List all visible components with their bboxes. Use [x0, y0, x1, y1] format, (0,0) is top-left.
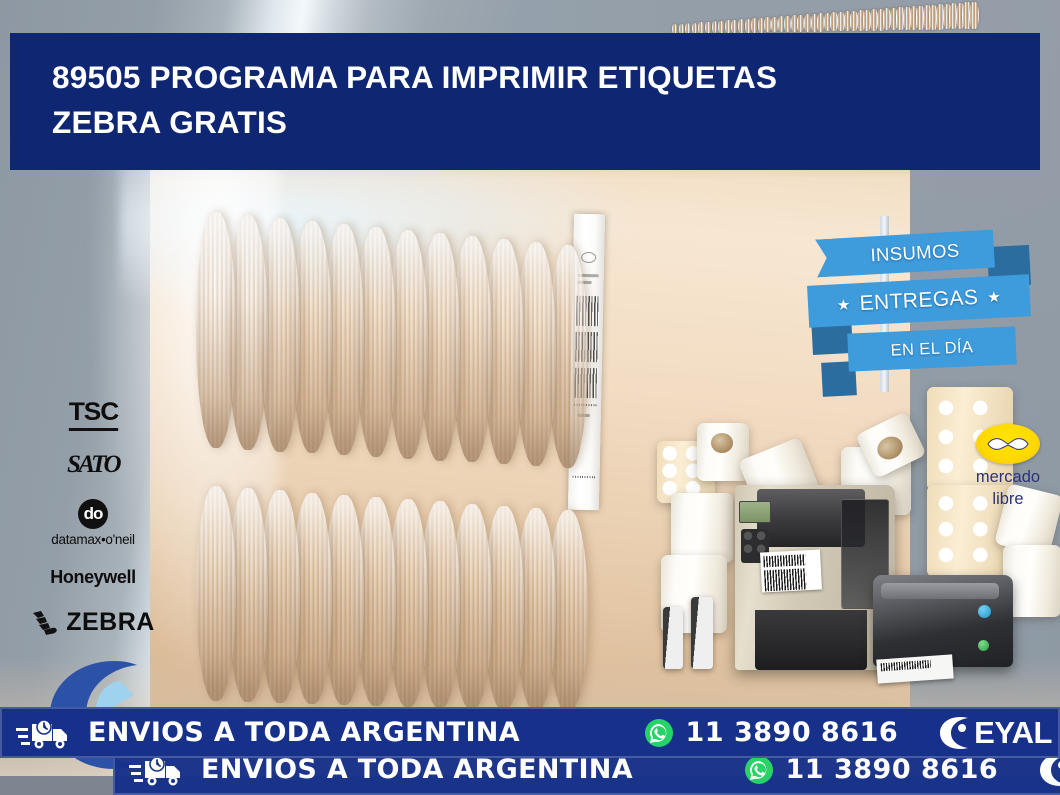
whatsapp-icon	[744, 755, 774, 785]
label-roll	[671, 493, 733, 563]
desktop-label-printer	[873, 575, 1013, 667]
datamax-mark-icon: do	[78, 499, 108, 529]
roll-core	[711, 433, 733, 453]
cookie	[698, 22, 703, 34]
brand-logo-sato: SATO	[18, 451, 168, 479]
whatsapp-block-duplicate: 11 3890 8616	[744, 754, 998, 785]
phone-number-duplicate: 11 3890 8616	[785, 754, 998, 785]
page-title: 89505 PROGRAMA PARA IMPRIMIR ETIQUETAS Z…	[10, 33, 1040, 145]
cookie	[784, 16, 791, 32]
promo-ribbons: INSUMOS ★ ENTREGAS ★ EN EL DÍA	[806, 216, 1060, 396]
cookie	[771, 17, 778, 33]
mercado-libre-logo: mercado libre	[962, 424, 1054, 507]
shipping-bar: ENVIOS A TODA ARGENTINA 11 3890 8616 EYA…	[0, 707, 1060, 758]
cookie	[196, 212, 236, 448]
delivery-truck-clock-icon	[16, 716, 72, 750]
ribbon-label-en-el-dia: EN EL DÍA	[890, 338, 974, 361]
shipping-text-duplicate: ENVIOS A TODA ARGENTINA	[201, 754, 633, 785]
printer-lid	[881, 583, 999, 599]
star-icon-right: ★	[987, 288, 1002, 307]
brand-label-datamax-oneil: datamax•o'neil	[18, 532, 168, 547]
cookie	[731, 20, 737, 33]
cookie	[745, 19, 751, 33]
eyal-brand-text: EYAL	[974, 715, 1052, 751]
eyal-logo: EYAL	[938, 715, 1052, 751]
whatsapp-icon[interactable]	[644, 718, 674, 748]
cookie	[758, 18, 764, 33]
printer-base	[755, 610, 867, 670]
cookie	[692, 23, 697, 34]
brand-logo-zebra: ZEBRA	[18, 608, 168, 637]
cookie	[969, 2, 979, 29]
label-microtext	[573, 476, 596, 478]
label-ellipse	[581, 252, 596, 263]
phone-number[interactable]: 11 3890 8616	[685, 717, 898, 748]
mercado-libre-name-line2: libre	[962, 491, 1054, 508]
printer-feed-button	[978, 605, 991, 618]
star-icon-left: ★	[836, 296, 851, 315]
eyal-c-icon	[938, 715, 972, 751]
cookie	[725, 20, 731, 33]
whatsapp-contact[interactable]: 11 3890 8616	[644, 717, 898, 748]
industrial-label-printer	[735, 485, 895, 670]
cookie	[712, 21, 718, 33]
brand-label-sato: SATO	[67, 451, 119, 478]
brand-label-zebra: ZEBRA	[66, 608, 155, 637]
mercado-libre-name-line1: mercado	[962, 469, 1054, 486]
printer-status-led	[978, 640, 989, 651]
thermal-ribbon-roll	[663, 607, 683, 669]
zebra-head-icon	[31, 610, 61, 636]
thermal-ribbon-roll	[691, 597, 713, 669]
handshake-icon	[985, 433, 1031, 454]
brand-logo-tsc: TSC	[18, 398, 168, 431]
ribbon-insumos: INSUMOS	[835, 230, 995, 277]
ribbon-tail-left	[815, 238, 839, 277]
brand-logo-datamax-oneil: do datamax•o'neil	[18, 499, 168, 547]
supported-brands-list: TSC SATO do datamax•o'neil Honeywell ZEB…	[18, 398, 168, 637]
cookie	[778, 16, 785, 32]
ribbon-en-el-dia: EN EL DÍA	[847, 326, 1016, 371]
mercado-libre-badge	[976, 424, 1040, 464]
cookie	[738, 19, 744, 33]
cookie	[705, 22, 711, 34]
printed-label-output	[760, 549, 822, 592]
ribbon-entregas: ★ ENTREGAS ★	[807, 274, 1031, 328]
brand-logo-honeywell: Honeywell	[18, 567, 168, 588]
brand-label-tsc: TSC	[68, 398, 117, 431]
brand-label-honeywell: Honeywell	[50, 567, 135, 587]
title-banner: 89505 PROGRAMA PARA IMPRIMIR ETIQUETAS Z…	[10, 33, 1040, 170]
shipping-text: ENVIOS A TODA ARGENTINA	[88, 717, 520, 748]
printer-lcd-display	[739, 501, 771, 523]
cookie	[804, 14, 811, 32]
cookie	[718, 21, 724, 34]
cookie	[196, 486, 236, 701]
cookie-stack-lower	[0, 0, 1060, 1]
printed-receipt	[876, 654, 953, 683]
cookie	[764, 17, 770, 32]
cookie	[751, 18, 757, 33]
